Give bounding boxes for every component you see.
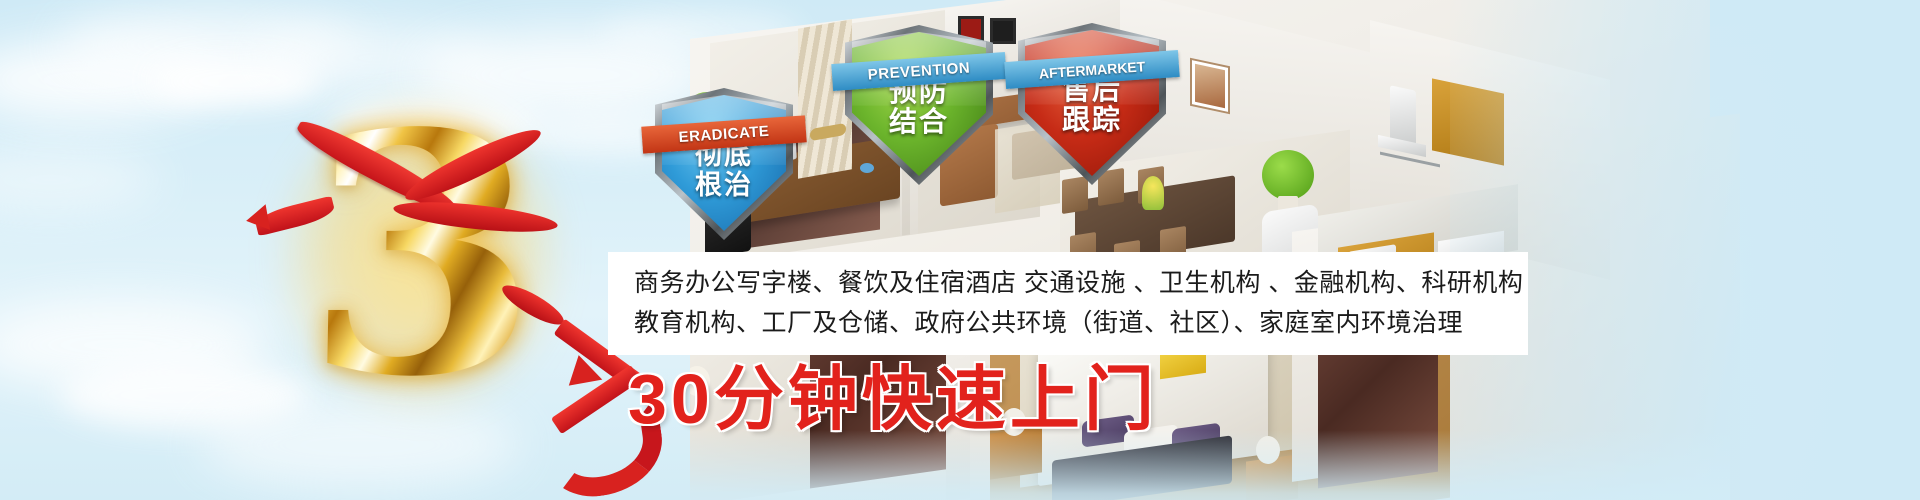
ribbon-arrow-left-icon xyxy=(244,204,270,233)
bottom-edge-fade xyxy=(690,430,1730,500)
badge-cn-line2: 结合 xyxy=(845,107,993,137)
promo-banner: 3 彻底 根治 ERADICATE 预防 结合 PREVENTION xyxy=(0,0,1920,500)
wall-art-dark xyxy=(990,18,1016,44)
badge-cn-line2: 跟踪 xyxy=(1018,105,1166,135)
curtain xyxy=(798,19,852,179)
headline-text: 30分钟快速上门 xyxy=(628,360,1158,438)
badge-aftermarket[interactable]: 售后 跟踪 AFTERMARKET xyxy=(1018,23,1166,185)
badge-prevention[interactable]: 预防 结合 PREVENTION xyxy=(845,25,993,185)
service-scope-line-1: 商务办公写字楼、餐饮及住宿酒店 交通设施 、卫生机构 、金融机构、科研机构 xyxy=(634,263,1528,303)
badge-cn-line2: 根治 xyxy=(655,170,793,200)
right-edge-fade xyxy=(1450,0,1920,500)
service-scope-line-2: 教育机构、工厂及仓储、政府公共环境（街道、社区）、家庭室内环境治理 xyxy=(634,303,1528,343)
dining-picture-image xyxy=(1195,64,1225,108)
plant-leaf-dining xyxy=(1262,150,1314,200)
service-scope-panel: 商务办公写字楼、餐饮及住宿酒店 交通设施 、卫生机构 、金融机构、科研机构 教育… xyxy=(608,252,1528,355)
badge-eradicate[interactable]: 彻底 根治 ERADICATE xyxy=(655,88,793,240)
